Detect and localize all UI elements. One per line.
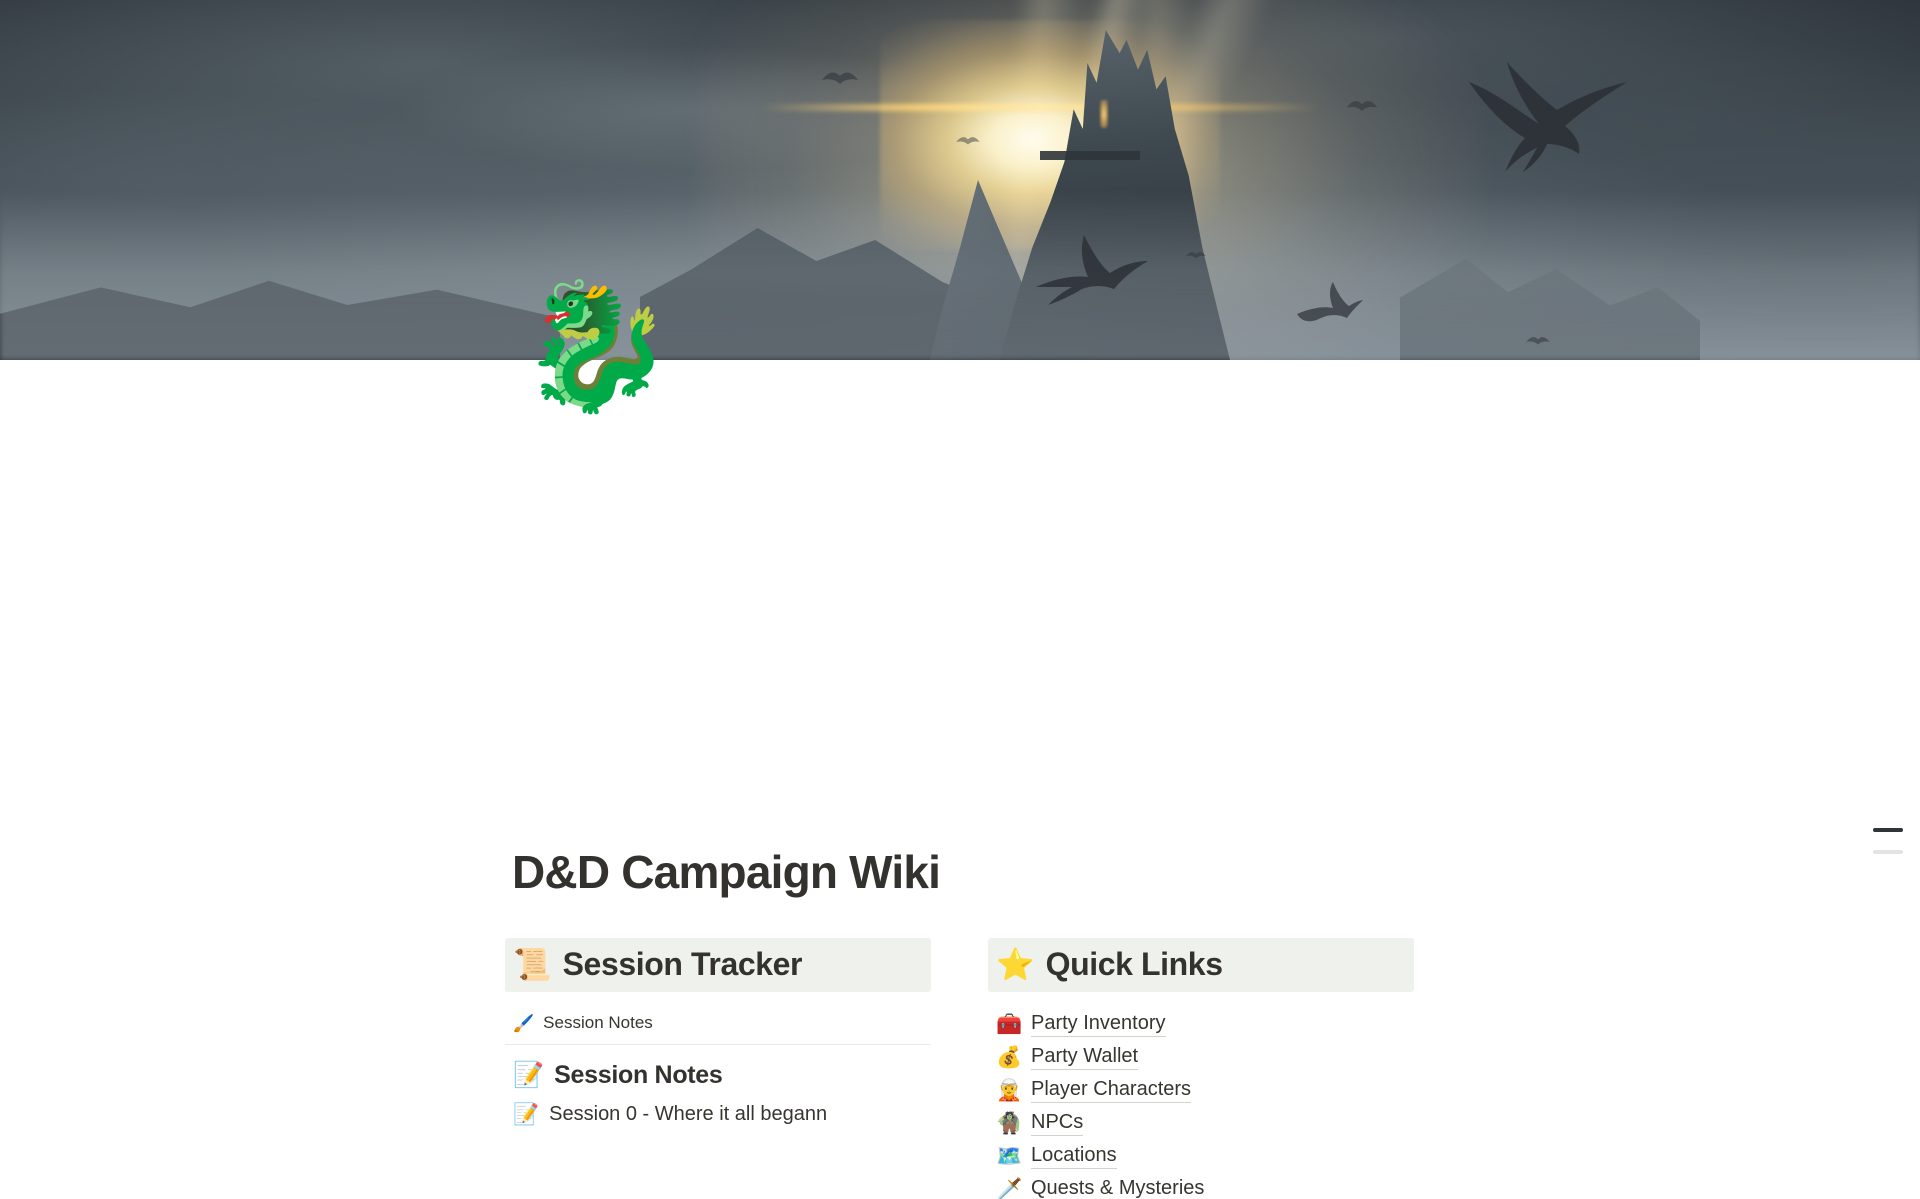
hero-lens-flare <box>760 104 1320 111</box>
quick-link-player-characters[interactable]: 🧝 Player Characters <box>988 1074 1414 1107</box>
bird-icon <box>955 130 981 150</box>
goblin-icon: 🧌 <box>996 1113 1020 1134</box>
star-icon: ⭐ <box>996 949 1035 980</box>
bird-icon <box>1345 92 1379 118</box>
quick-link-party-wallet[interactable]: 💰 Party Wallet <box>988 1041 1414 1074</box>
session-notes-heading: 📝 Session Notes <box>505 1061 931 1096</box>
session-tracker-header: 📜 Session Tracker <box>505 938 931 992</box>
bird-icon <box>1525 330 1551 350</box>
dragon-icon <box>1455 48 1655 218</box>
quick-links-title: Quick Links <box>1046 946 1223 983</box>
column-quick-links: ⭐ Quick Links 🧰 Party Inventory 💰 Party … <box>988 938 1414 1199</box>
bird-icon <box>1185 246 1207 263</box>
memo-scroll-icon: 📝 <box>513 1063 544 1088</box>
session-tracker-title: Session Tracker <box>563 946 803 983</box>
dagger-icon: 🗡️ <box>996 1179 1020 1199</box>
list-item[interactable]: 📝 Session 0 - Where it all begann <box>505 1096 931 1133</box>
toc-bar-inactive[interactable] <box>1873 850 1903 854</box>
quick-link-label: Party Wallet <box>1031 1045 1138 1070</box>
two-column-layout: 📜 Session Tracker 🖌️ Session Notes 📝 Ses… <box>505 938 1415 1199</box>
quick-link-label: Party Inventory <box>1031 1012 1166 1037</box>
hero-castle-window-light <box>1100 100 1108 128</box>
quick-link-label: NPCs <box>1031 1111 1083 1136</box>
hero-artwork <box>0 0 1920 360</box>
memo-scroll-icon: 📝 <box>513 1104 539 1125</box>
page-title: D&D Campaign Wiki <box>512 845 940 899</box>
quick-link-party-inventory[interactable]: 🧰 Party Inventory <box>988 1008 1414 1041</box>
scroll-icon: 📜 <box>513 949 552 980</box>
bird-icon <box>820 62 860 92</box>
column-session-tracker: 📜 Session Tracker 🖌️ Session Notes 📝 Ses… <box>505 938 931 1199</box>
quick-link-npcs[interactable]: 🧌 NPCs <box>988 1107 1414 1140</box>
session-notes-database-label: Session Notes <box>543 1013 653 1033</box>
money-bag-icon: 💰 <box>996 1047 1020 1068</box>
page-icon-dragon[interactable]: 🐉 <box>519 272 669 422</box>
dragon-icon <box>1030 225 1150 315</box>
session-notes-database-link[interactable]: 🖌️ Session Notes <box>505 1008 931 1045</box>
quick-link-label: Player Characters <box>1031 1078 1191 1103</box>
toc-bar-active[interactable] <box>1873 828 1903 832</box>
dragon-icon <box>1295 278 1365 330</box>
hero-banner <box>0 0 1920 360</box>
quick-link-quests-mysteries[interactable]: 🗡️ Quests & Mysteries <box>988 1173 1414 1199</box>
table-of-contents-indicator[interactable] <box>1863 828 1903 854</box>
elf-icon: 🧝 <box>996 1080 1020 1101</box>
session-page-label: Session 0 - Where it all begann <box>549 1103 827 1126</box>
paintbrush-icon: 🖌️ <box>513 1015 534 1032</box>
quick-links-header: ⭐ Quick Links <box>988 938 1414 992</box>
session-notes-heading-label: Session Notes <box>554 1061 722 1090</box>
quick-link-label: Locations <box>1031 1144 1117 1169</box>
map-icon: 🗺️ <box>996 1146 1020 1167</box>
quick-link-locations[interactable]: 🗺️ Locations <box>988 1140 1414 1173</box>
hero-castle-bridge <box>1040 151 1140 160</box>
quick-link-label: Quests & Mysteries <box>1031 1177 1204 1199</box>
treasure-chest-icon: 🧰 <box>996 1014 1020 1035</box>
